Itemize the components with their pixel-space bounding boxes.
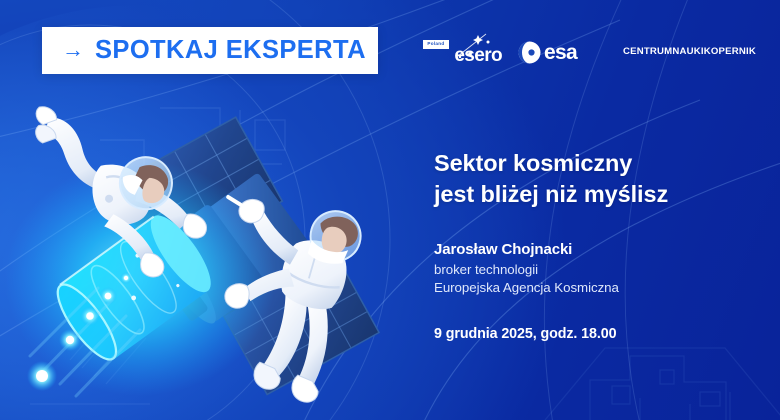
speaker-role: broker technologii: [434, 261, 754, 279]
cnk-line-2: NAUKI: [672, 46, 703, 59]
esero-wordmark: esero: [454, 45, 502, 67]
cnk-line-3: KOPERNIK: [704, 46, 756, 59]
event-date-time: 9 grudnia 2025, godz. 18.00: [434, 326, 754, 342]
speaker-name: Jarosław Chojnacki: [434, 239, 754, 261]
solar-panel-left: [113, 117, 282, 269]
satellite-with-astronauts-illustration: [0, 78, 430, 420]
banner-label: SPOTKAJ EKSPERTA: [95, 36, 366, 65]
event-text-column: Sektor kosmiczny jest bliżej niż myślisz…: [434, 148, 754, 342]
astronaut-upper-left: [4, 105, 225, 287]
particle-trail: [27, 272, 140, 396]
engine-glow-halo: [5, 160, 275, 396]
esero-country-badge: Poland: [423, 40, 449, 49]
solar-panel-right: [223, 254, 379, 395]
partner-logos: Poland esero esa CENTRUM NAUKI KOPERNIK: [424, 30, 756, 74]
page-title: Sektor kosmiczny jest bliżej niż myślisz: [434, 148, 754, 209]
astronaut-lower-right: [180, 181, 368, 405]
cnk-line-1: CENTRUM: [623, 46, 672, 59]
arrow-right-icon: →: [62, 39, 84, 61]
speaker-info: Jarosław Chojnacki broker technologii Eu…: [434, 239, 754, 297]
logo-esero-poland: Poland esero: [424, 32, 472, 72]
headline-line-1: Sektor kosmiczny: [434, 148, 754, 179]
headline-line-2: jest bliżej niż myślisz: [434, 179, 754, 210]
spotkaj-eksperta-banner: → SPOTKAJ EKSPERTA: [42, 27, 378, 74]
speaker-organisation: Europejska Agencja Kosmiczna: [434, 279, 754, 297]
esa-globe-icon: [518, 41, 541, 64]
logo-centrum-nauki-kopernik: CENTRUM NAUKI KOPERNIK: [623, 46, 756, 59]
event-poster: → SPOTKAJ EKSPERTA Poland esero esa: [0, 0, 780, 420]
satellite-body: [141, 169, 315, 333]
logo-esa: esa: [518, 40, 577, 64]
glowing-engine: [47, 207, 221, 368]
esa-wordmark: esa: [544, 41, 577, 65]
